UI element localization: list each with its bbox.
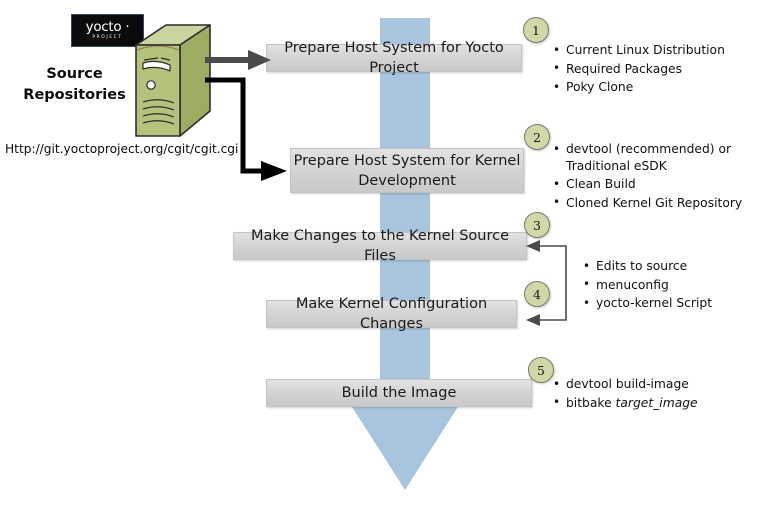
step-1-bullets: Current Linux Distribution Required Pack…: [553, 42, 725, 98]
step-circle-4: 4: [524, 281, 550, 307]
list-item: bitbake target_image: [553, 395, 698, 412]
source-repositories-label: Source Repositories: [12, 64, 137, 106]
server-icon: [134, 23, 212, 141]
step-circle-2-number: 2: [533, 130, 541, 145]
list-item: devtool (recommended) or Traditional eSD…: [553, 141, 742, 174]
step-circle-3: 3: [524, 212, 550, 238]
source-repositories-label-line2: Repositories: [12, 85, 137, 106]
list-item-text: devtool (recommended) or: [566, 142, 731, 156]
diagram-canvas: yocto · PROJECT Source Repositories Http…: [0, 0, 769, 517]
list-item-command: bitbake: [566, 396, 616, 410]
connector-server-to-step1: [205, 45, 275, 75]
source-repositories-label-line1: Source: [12, 64, 137, 85]
step-box-4[interactable]: Make Kernel Configuration Changes: [266, 300, 517, 328]
step-2-bullets: devtool (recommended) or Traditional eSD…: [553, 141, 742, 213]
list-item: yocto-kernel Script: [583, 295, 712, 312]
step-5-bullets: devtool build-image bitbake target_image: [553, 376, 698, 413]
yocto-logo-wordmark: yocto ·: [86, 21, 130, 35]
step-box-2[interactable]: Prepare Host System for Kernel Developme…: [290, 148, 524, 193]
step-circle-1-number: 1: [532, 23, 540, 38]
connector-server-to-step2: [205, 76, 295, 181]
list-item: Cloned Kernel Git Repository: [553, 195, 742, 212]
step-circle-2: 2: [524, 124, 550, 150]
step-box-2-label-line1: Prepare Host System for Kernel: [294, 151, 521, 171]
step-box-5-label: Build the Image: [342, 383, 457, 403]
source-repositories-url: Http://git.yoctoproject.org/cgit/cgit.cg…: [5, 142, 238, 156]
list-item-text-continued: Traditional eSDK: [566, 158, 742, 175]
list-item: Edits to source: [583, 258, 712, 275]
step-box-2-label-line2: Development: [358, 171, 456, 191]
step-circle-5-number: 5: [537, 363, 545, 378]
list-item-emphasis: target_image: [616, 396, 698, 410]
step-circle-3-number: 3: [533, 218, 541, 233]
step-box-4-label: Make Kernel Configuration Changes: [267, 294, 516, 334]
step-3-4-shared-bullets: Edits to source menuconfig yocto-kernel …: [583, 258, 712, 314]
list-item: Required Packages: [553, 61, 725, 78]
list-item: Current Linux Distribution: [553, 42, 725, 59]
yocto-logo-subtitle: PROJECT: [92, 36, 122, 40]
step-box-3-label: Make Changes to the Kernel Source Files: [234, 226, 526, 266]
step-box-1-label: Prepare Host System for Yocto Project: [267, 38, 521, 78]
step-box-3[interactable]: Make Changes to the Kernel Source Files: [233, 232, 527, 260]
list-item: Clean Build: [553, 176, 742, 193]
step-box-5[interactable]: Build the Image: [266, 379, 532, 407]
list-item: Poky Clone: [553, 79, 725, 96]
step-box-1[interactable]: Prepare Host System for Yocto Project: [266, 44, 522, 72]
list-item: devtool build-image: [553, 376, 698, 393]
step-circle-5: 5: [528, 357, 554, 383]
list-item: menuconfig: [583, 277, 712, 294]
step-circle-4-number: 4: [533, 287, 541, 302]
step-circle-1: 1: [523, 17, 549, 43]
